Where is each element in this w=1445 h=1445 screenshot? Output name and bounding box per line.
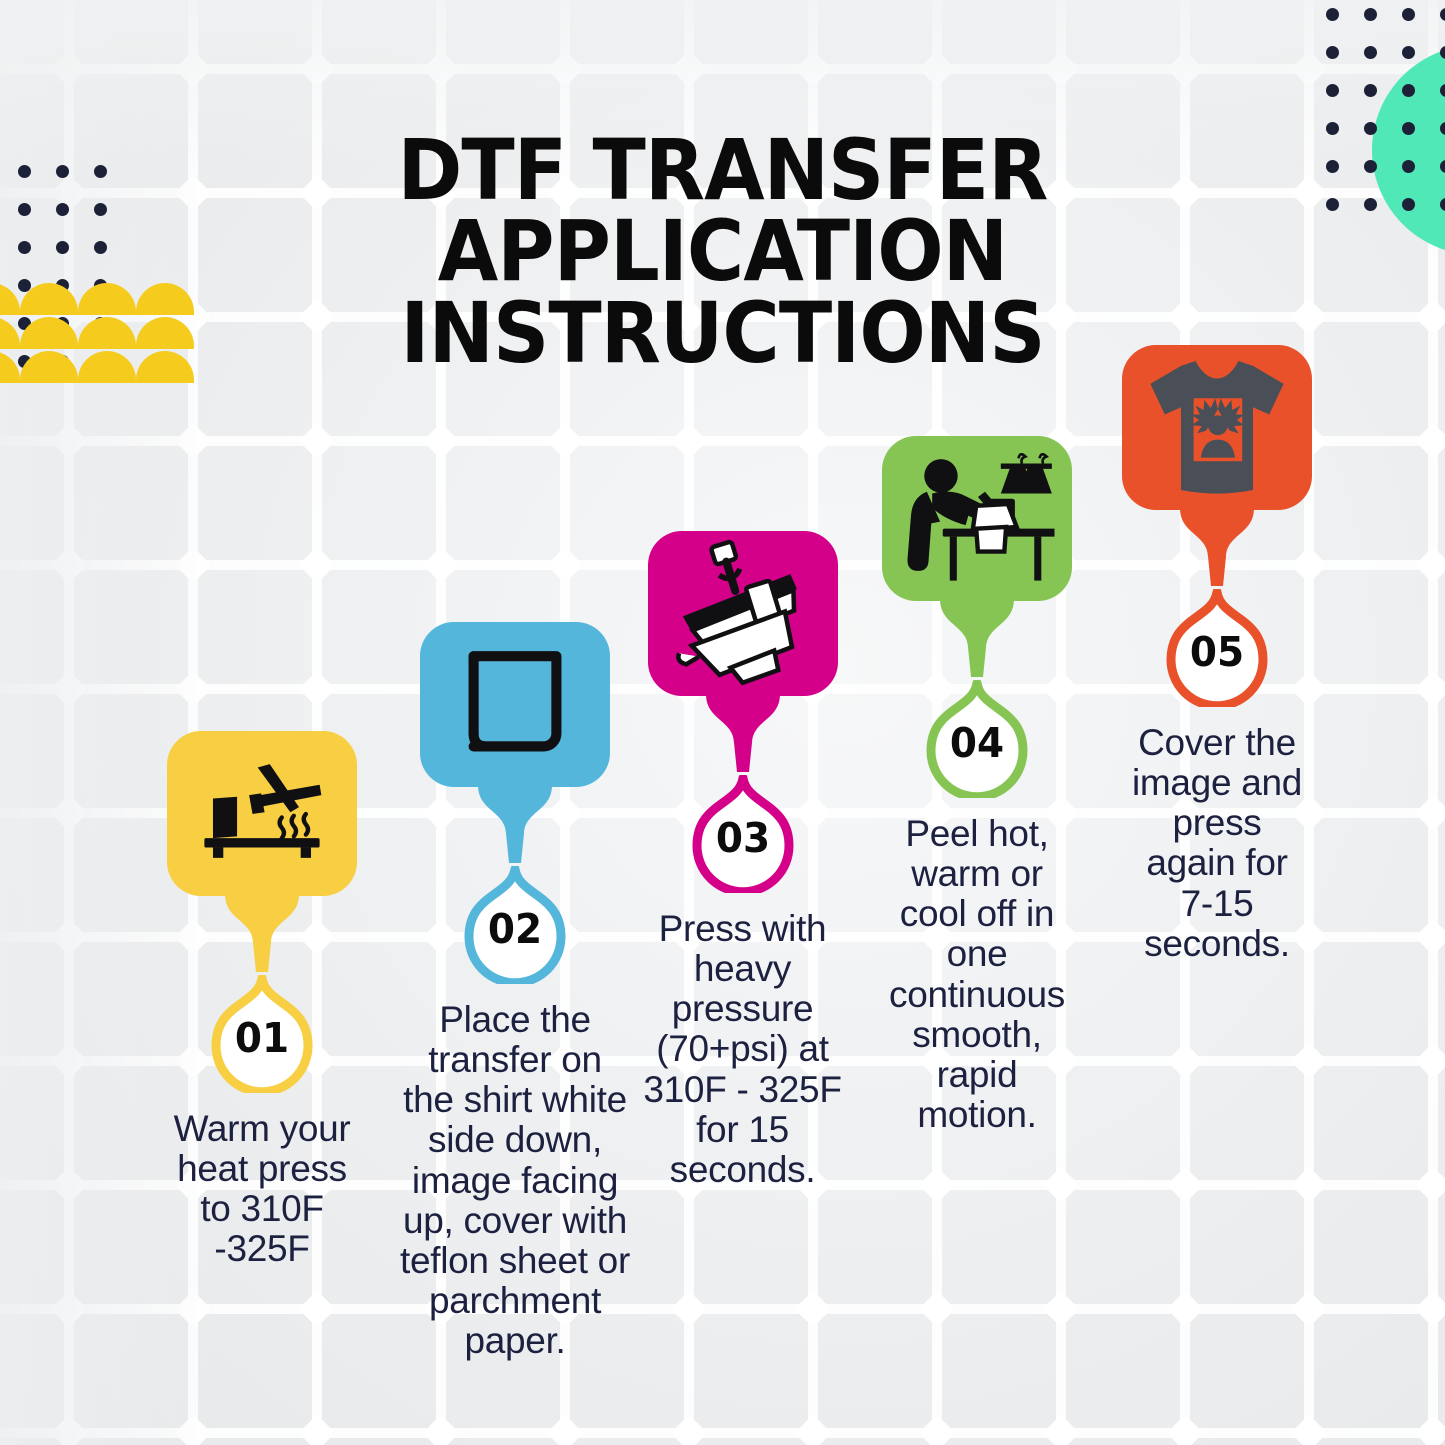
- step-number-text: 04: [928, 719, 1027, 767]
- connector-shape: [219, 894, 305, 972]
- step-number-badge-02[interactable]: 02: [463, 866, 567, 984]
- connector-shape: [1174, 508, 1260, 586]
- step-03: 03Press with heavy pressure (70+psi) at …: [630, 531, 855, 1190]
- page-header: DTF TRANSFER APPLICATION INSTRUCTIONS: [0, 130, 1445, 374]
- heat-press-machine-icon: [666, 539, 819, 688]
- step-number-badge-01[interactable]: 01: [210, 975, 314, 1093]
- transfer-sheet-icon: [461, 645, 570, 765]
- step-01: 01Warm your heat press to 310F -325F: [148, 731, 376, 1270]
- step-number-text: 05: [1168, 628, 1267, 676]
- step-number-badge-04[interactable]: 04: [925, 680, 1029, 798]
- step-number-badge-03[interactable]: 03: [691, 775, 795, 893]
- printed-tshirt-icon: [1145, 353, 1289, 502]
- step-connector-01: [219, 894, 305, 977]
- connector-shape: [934, 599, 1020, 677]
- step-description-03: Press with heavy pressure (70+psi) at 31…: [630, 909, 855, 1190]
- step-icon-card-01[interactable]: [167, 731, 357, 896]
- step-connector-03: [700, 694, 786, 777]
- heat-press-open-icon: [198, 762, 327, 865]
- step-description-01: Warm your heat press to 310F -325F: [148, 1109, 376, 1270]
- step-icon-card-04[interactable]: [882, 436, 1072, 601]
- step-04: 04Peel hot, warm or cool off in one cont…: [871, 436, 1083, 1135]
- peeling-transfer-icon: [900, 453, 1054, 585]
- step-02: 02Place the transfer on the shirt white …: [389, 622, 641, 1361]
- step-connector-02: [472, 785, 558, 868]
- step-connector-05: [1174, 508, 1260, 591]
- page-title: DTF TRANSFER APPLICATION INSTRUCTIONS: [51, 130, 1395, 374]
- step-icon-card-03[interactable]: [648, 531, 838, 696]
- step-number-badge-05[interactable]: 05: [1165, 589, 1269, 707]
- heat-press-machine-icon: [666, 539, 819, 688]
- step-05: 05Cover the image and press again for 7-…: [1112, 345, 1322, 964]
- connector-shape: [700, 694, 786, 772]
- step-connector-04: [934, 599, 1020, 682]
- step-description-05: Cover the image and press again for 7-15…: [1112, 723, 1322, 964]
- step-icon-card-02[interactable]: [420, 622, 610, 787]
- step-number-text: 01: [213, 1014, 312, 1062]
- step-description-04: Peel hot, warm or cool off in one contin…: [871, 814, 1083, 1135]
- step-number-text: 02: [466, 905, 565, 953]
- printed-tshirt-icon: [1145, 353, 1289, 502]
- peeling-transfer-icon: [900, 453, 1054, 585]
- step-description-02: Place the transfer on the shirt white si…: [389, 1000, 641, 1361]
- step-number-text: 03: [693, 814, 792, 862]
- transfer-sheet-icon: [461, 645, 570, 765]
- heat-press-open-icon: [198, 762, 327, 865]
- connector-shape: [472, 785, 558, 863]
